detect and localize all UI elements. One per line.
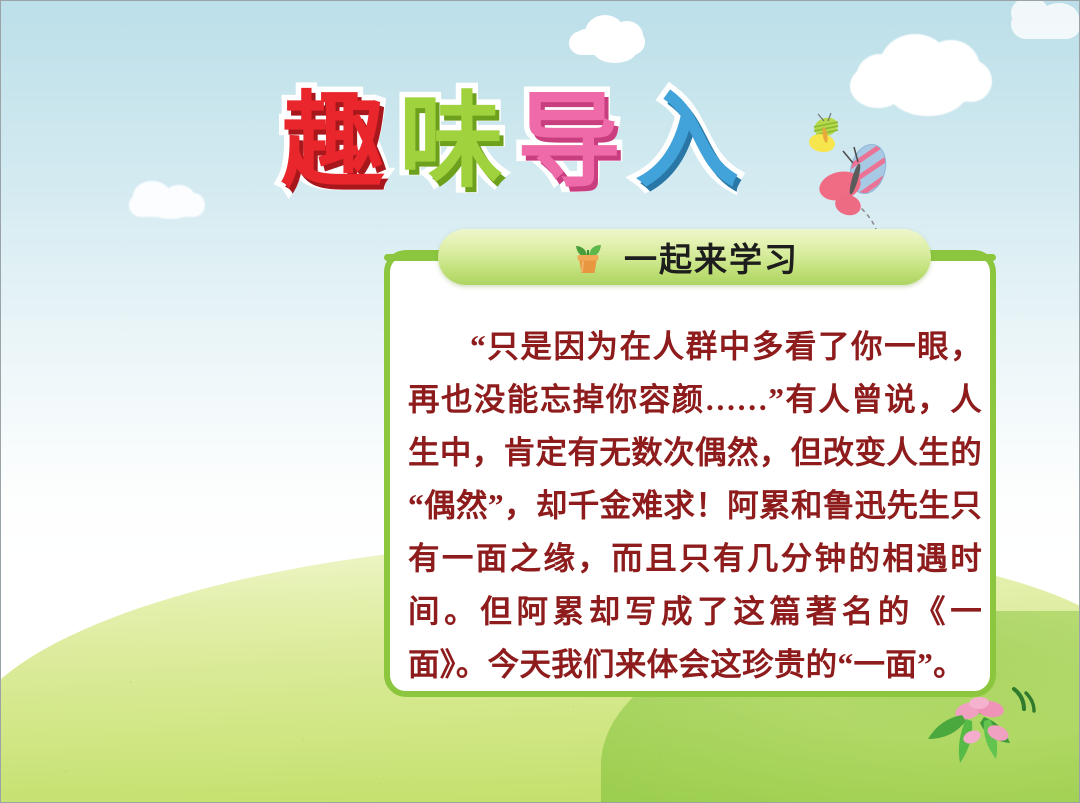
page-title: 趣 趣 趣 味 味 味 导 导 导 入 入 入 xyxy=(281,73,821,209)
butterfly-group xyxy=(796,113,916,238)
title-char-3: 导 导 导 xyxy=(517,89,621,193)
cloud-icon xyxy=(573,29,645,55)
cloud-icon xyxy=(1011,9,1080,39)
content-panel: “只是因为在人群中多看了你一眼，再也没能忘掉你容颜……”有人曾说，人生中，肯定有… xyxy=(384,250,996,697)
title-char-2-fill: 味 xyxy=(399,89,503,193)
cloud-icon xyxy=(129,193,205,217)
title-char-1-fill: 趣 xyxy=(281,89,385,193)
title-char-4-fill: 入 xyxy=(635,89,739,193)
title-char-4: 入 入 入 xyxy=(635,89,739,193)
flower-cluster-icon xyxy=(906,679,1066,789)
cloud-icon xyxy=(856,54,986,102)
title-char-1: 趣 趣 趣 xyxy=(281,89,385,193)
butterfly-yellow-icon xyxy=(808,113,840,154)
body-paragraph: “只是因为在人群中多看了你一眼，再也没能忘掉你容颜……”有人曾说，人生中，肯定有… xyxy=(390,320,1002,691)
title-char-2: 味 味 味 xyxy=(399,89,503,193)
banner-label: 一起来学习 xyxy=(616,233,799,281)
title-char-3-fill: 导 xyxy=(517,89,621,193)
section-banner: 一起来学习 xyxy=(438,229,931,285)
slide-canvas: 趣 趣 趣 味 味 味 导 导 导 入 入 入 xyxy=(0,0,1080,803)
potted-plant-icon xyxy=(570,238,606,276)
